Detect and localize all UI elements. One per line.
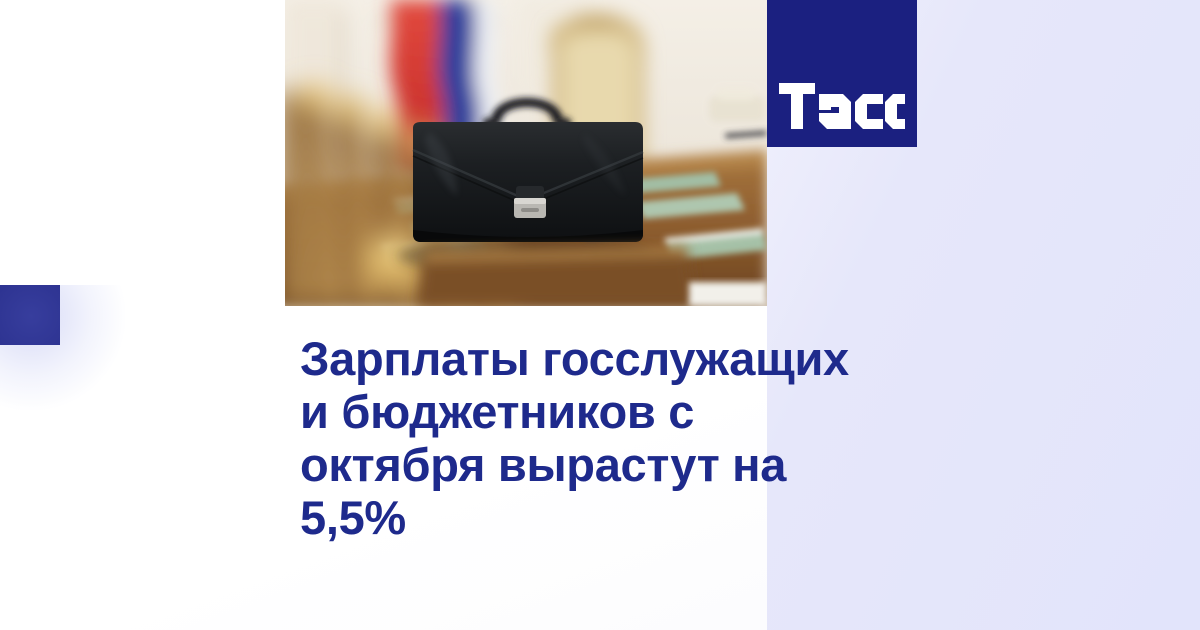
- tass-logo-mark: [779, 83, 905, 129]
- headline: Зарплаты госслужащих и бюджетников с окт…: [300, 332, 860, 544]
- article-photo: [285, 0, 767, 306]
- tass-logo[interactable]: тасс: [767, 0, 917, 147]
- photo-illustration: [285, 0, 767, 306]
- news-share-card: тасс Зарплаты госслужащих и бюджетников …: [0, 0, 1200, 630]
- decorative-square: [0, 285, 60, 345]
